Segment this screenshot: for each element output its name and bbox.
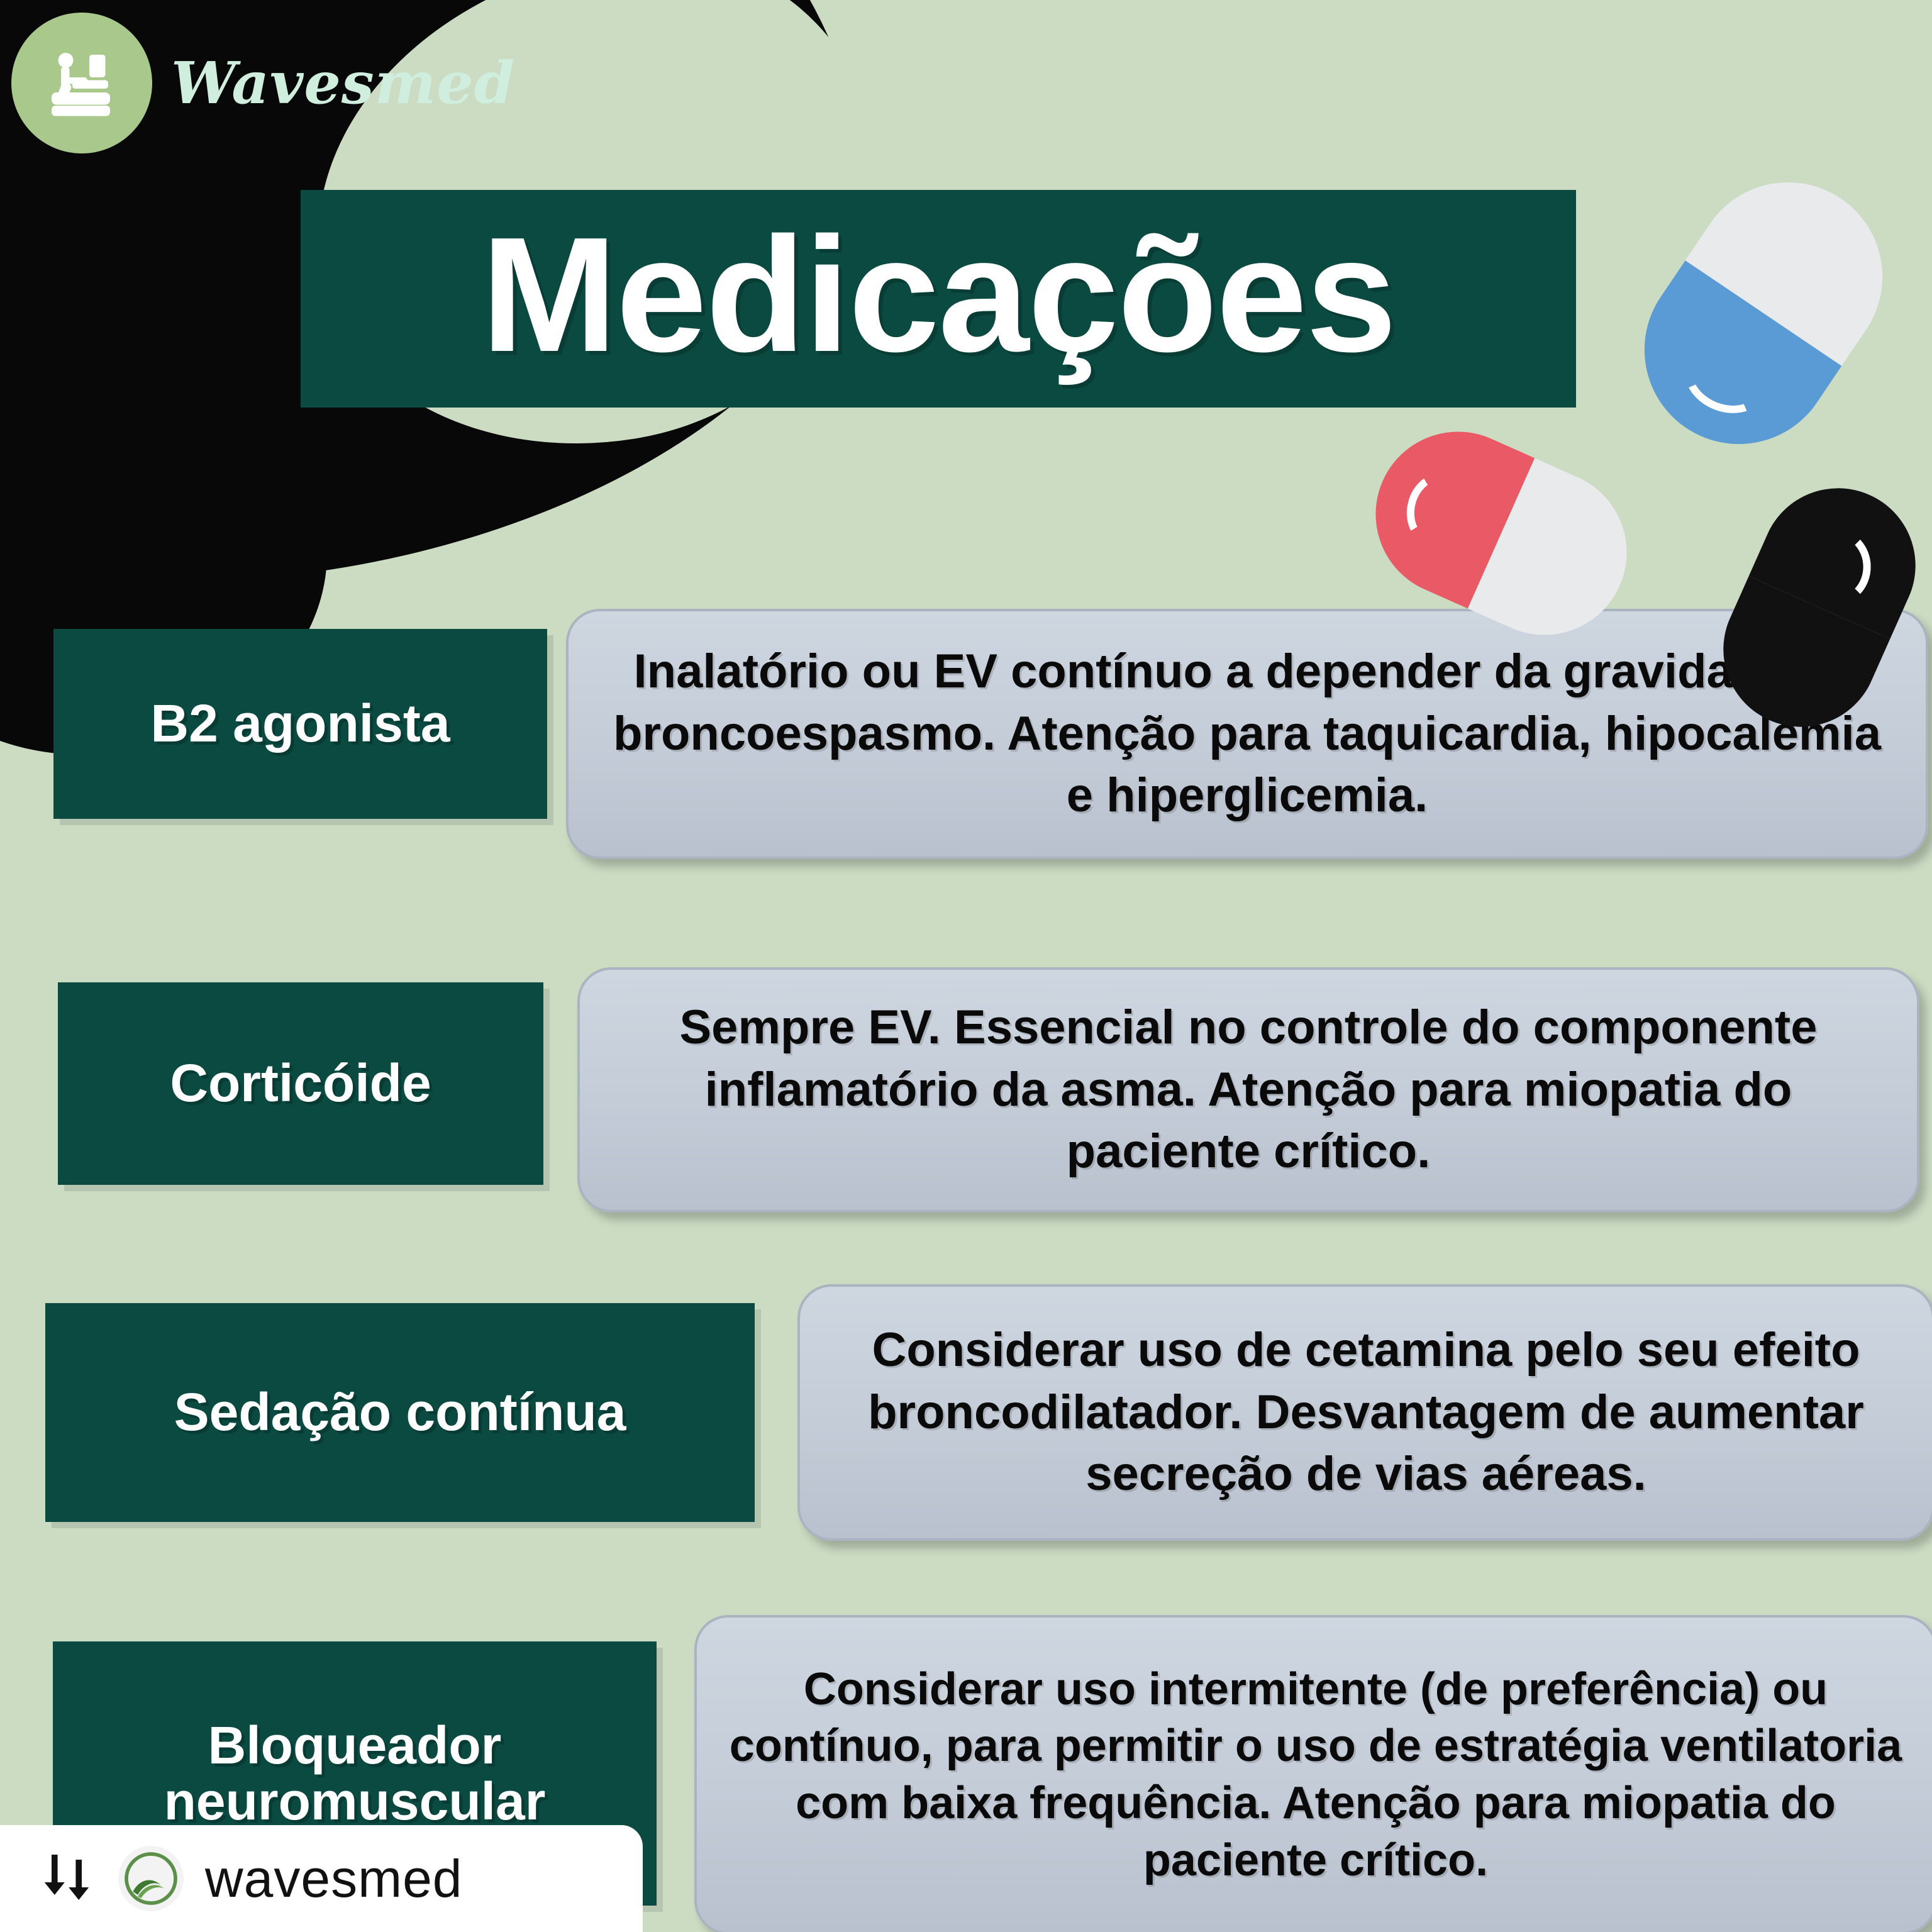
pill-blue-capsule-icon [1608, 146, 1919, 481]
medication-label: Bloqueador neuromuscular [53, 1718, 657, 1829]
medication-description-box[interactable]: Sempre EV. Essencial no controle do comp… [577, 967, 1919, 1213]
infographic-canvas: Wavesmed Medicações B2 agonista Inalat [0, 0, 1932, 1932]
medication-label: B2 agonista [139, 696, 461, 752]
medication-label-box[interactable]: Corticóide [58, 982, 543, 1185]
page-title: Medicações [481, 213, 1396, 377]
medication-label: Corticóide [158, 1055, 442, 1111]
repost-watermark: wavesmed [0, 1825, 643, 1932]
medication-description: Sempre EV. Essencial no controle do comp… [580, 991, 1917, 1189]
brand-name: Wavesmed [171, 49, 515, 117]
medication-description: Considerar uso intermitente (de preferên… [697, 1655, 1932, 1896]
medication-label-box[interactable]: Sedação contínua [45, 1303, 755, 1522]
medication-description-box[interactable]: Considerar uso intermitente (de preferên… [694, 1615, 1932, 1932]
pill-shine-icon [1802, 529, 1871, 604]
brand-logo: Wavesmed [11, 13, 515, 153]
watermark-handle: wavesmed [205, 1848, 463, 1909]
wavesmed-avatar-icon [118, 1846, 184, 1911]
repost-arrows-icon [36, 1847, 97, 1911]
medication-description-box[interactable]: Considerar uso de cetamina pelo seu efei… [797, 1284, 1932, 1541]
medication-label-box[interactable]: B2 agonista [53, 629, 547, 819]
patient-bed-icon [11, 13, 152, 153]
medication-label: Sedação contínua [163, 1384, 638, 1440]
medication-description: Considerar uso de cetamina pelo seu efei… [800, 1313, 1932, 1512]
page-title-box: Medicações [301, 190, 1576, 408]
